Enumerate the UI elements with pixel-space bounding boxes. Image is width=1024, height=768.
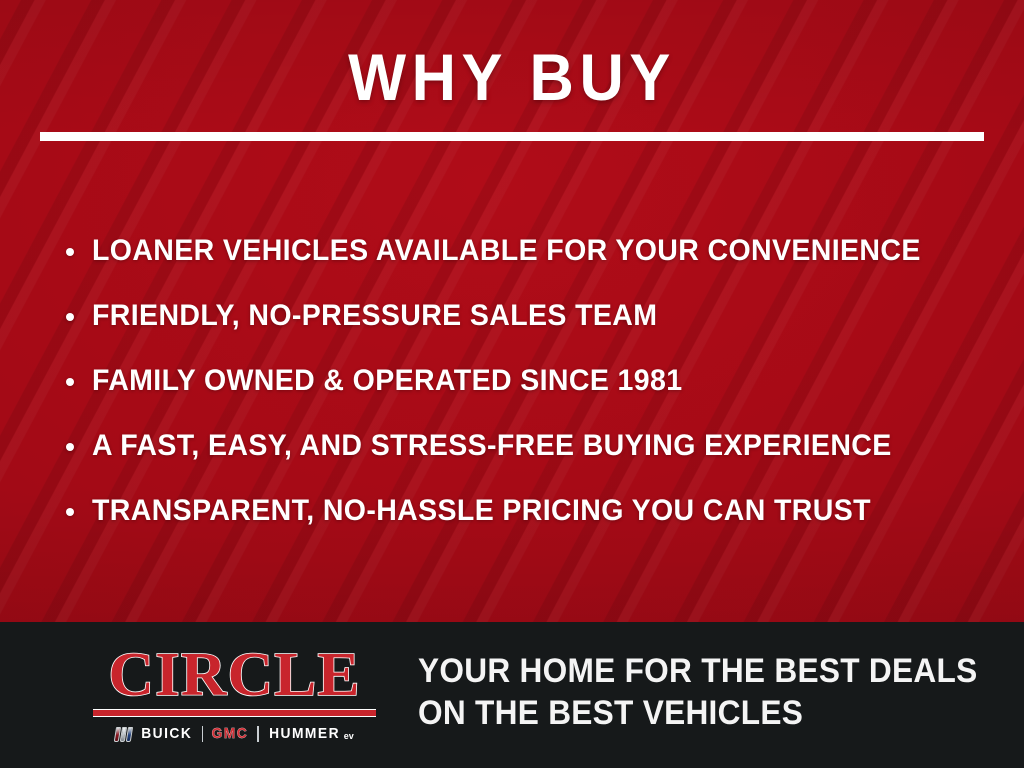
shield-segment-blue bbox=[126, 727, 133, 742]
dealer-logo-rule bbox=[93, 709, 376, 717]
brand-strip: BUICK GMC HUMMER ev bbox=[92, 724, 377, 744]
brand-separator bbox=[202, 726, 204, 742]
list-item-label: A FAST, EASY, AND STRESS-FREE BUYING EXP… bbox=[92, 430, 892, 462]
bullet-dot-icon bbox=[66, 248, 74, 256]
list-item-label: FRIENDLY, NO-PRESSURE SALES TEAM bbox=[92, 300, 657, 332]
bullet-dot-icon bbox=[66, 443, 74, 451]
list-item: FAMILY OWNED & OPERATED SINCE 1981 bbox=[66, 348, 986, 413]
list-item: LOANER VEHICLES AVAILABLE FOR YOUR CONVE… bbox=[66, 218, 986, 283]
list-item: FRIENDLY, NO-PRESSURE SALES TEAM bbox=[66, 283, 986, 348]
brand-label-hummer-group: HUMMER ev bbox=[266, 726, 354, 742]
list-item-label: LOANER VEHICLES AVAILABLE FOR YOUR CONVE… bbox=[92, 235, 921, 267]
bullet-dot-icon bbox=[66, 378, 74, 386]
page-title: WHY BUY bbox=[36, 44, 988, 110]
footer-tagline-line-1: YOUR HOME FOR THE BEST DEALS bbox=[418, 650, 957, 692]
footer-inner: CIRCLE BUICK GMC HUMMER ev bbox=[0, 622, 1024, 768]
list-item: A FAST, EASY, AND STRESS-FREE BUYING EXP… bbox=[66, 413, 986, 478]
dealer-logo[interactable]: CIRCLE BUICK GMC HUMMER ev bbox=[92, 646, 377, 744]
brand-separator bbox=[257, 726, 259, 742]
brand-label-hummer-ev-suffix: ev bbox=[344, 732, 354, 742]
dealer-logo-wordmark: CIRCLE bbox=[89, 646, 380, 704]
footer-tagline: YOUR HOME FOR THE BEST DEALS ON THE BEST… bbox=[418, 650, 998, 734]
footer-bar: CIRCLE BUICK GMC HUMMER ev bbox=[0, 622, 1024, 768]
buick-trishield-icon bbox=[114, 726, 134, 742]
bullet-dot-icon bbox=[66, 508, 74, 516]
list-item-label: FAMILY OWNED & OPERATED SINCE 1981 bbox=[92, 365, 682, 397]
list-item: TRANSPARENT, NO-HASSLE PRICING YOU CAN T… bbox=[66, 478, 986, 543]
title-divider-rule bbox=[40, 132, 984, 141]
brand-label-buick: BUICK bbox=[142, 726, 193, 742]
slide-root: WHY BUY LOANER VEHICLES AVAILABLE FOR YO… bbox=[0, 0, 1024, 768]
brand-label-hummer: HUMMER bbox=[269, 726, 340, 742]
list-item-label: TRANSPARENT, NO-HASSLE PRICING YOU CAN T… bbox=[92, 495, 871, 527]
benefits-list: LOANER VEHICLES AVAILABLE FOR YOUR CONVE… bbox=[66, 218, 986, 543]
brand-label-gmc: GMC bbox=[212, 726, 249, 742]
footer-tagline-line-2: ON THE BEST VEHICLES bbox=[418, 692, 957, 734]
bullet-dot-icon bbox=[66, 313, 74, 321]
